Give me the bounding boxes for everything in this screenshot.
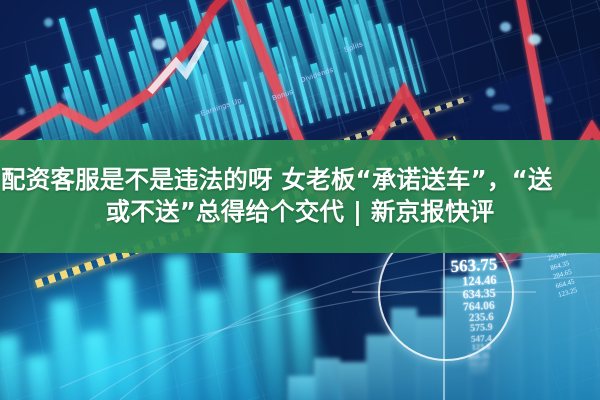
bokeh-dot: [44, 18, 53, 27]
bokeh-dot: [486, 88, 495, 97]
bokeh-dot: [544, 96, 552, 104]
headline-line-2: 或不送”总得给个交代 | 新京报快评: [106, 198, 495, 227]
bokeh-dot: [62, 92, 70, 100]
bokeh-dot: [18, 108, 25, 115]
bokeh-dot: [528, 34, 541, 45]
ticker-number-column: 563.75124.46634.35764.06235.6575.9547.41…: [401, 256, 503, 378]
bokeh-dot: [152, 38, 166, 50]
bokeh-dot: [178, 62, 188, 71]
bokeh-dot: [492, 104, 510, 111]
headline-text-block: 配资客服是不是违法的呀 女老板“承诺送车”，“送 或不送”总得给个交代 | 新京…: [0, 140, 600, 253]
news-cover-image: 563.75124.46634.35764.06235.6575.9547.41…: [0, 0, 600, 400]
bokeh-dot: [500, 22, 511, 32]
headline-line-1: 配资客服是不是违法的呀 女老板“承诺送车”，“送: [0, 166, 600, 195]
